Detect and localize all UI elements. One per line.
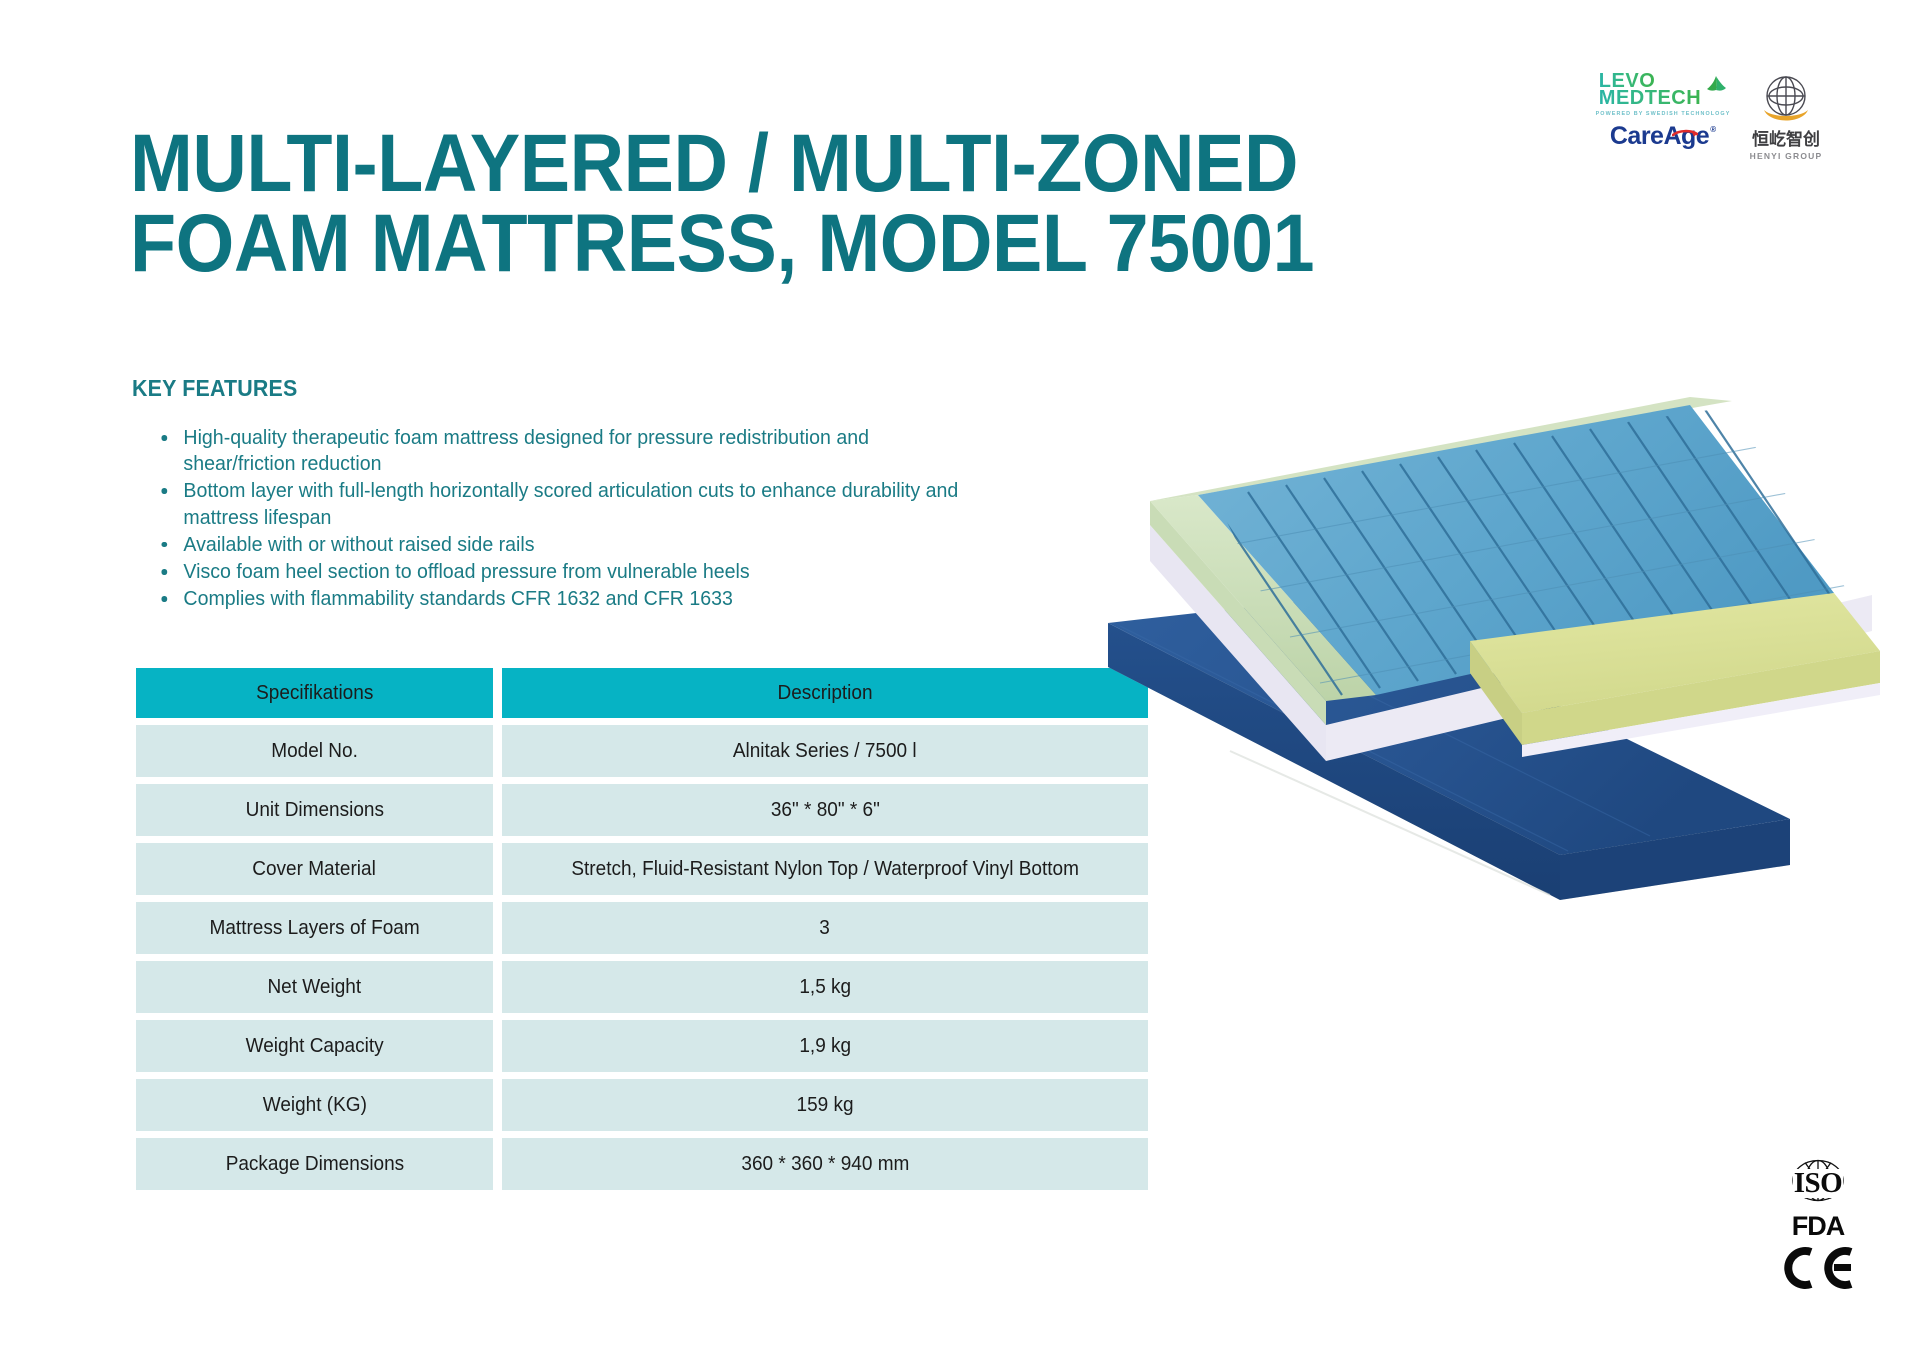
table-cell-value: 1,5 kg	[502, 961, 1148, 1013]
swoosh-icon	[1672, 125, 1698, 143]
page-title-line2: FOAM MATTRESS, MODEL 75001	[130, 204, 1326, 284]
key-features-heading: KEY FEATURES	[132, 375, 297, 402]
specifications-table: Specifikations Description Model No. Aln…	[136, 668, 1148, 1197]
fda-badge: FDA	[1792, 1213, 1845, 1240]
table-cell-value: 1,9 kg	[502, 1020, 1148, 1072]
henyi-chinese-name: 恒屹智创	[1752, 132, 1820, 149]
feature-item: Bottom layer with full-length horizontal…	[150, 478, 971, 530]
page-title: MULTI-LAYERED / MULTI-ZONED FOAM MATTRES…	[130, 124, 1430, 285]
table-row: Model No. Alnitak Series / 7500 l	[136, 725, 1148, 777]
leaf-icon	[1705, 75, 1727, 98]
bullet-icon	[161, 488, 166, 494]
table-row: Weight (KG) 159 kg	[136, 1079, 1148, 1131]
table-header-row: Specifikations Description	[136, 668, 1148, 718]
iso-badge: ISO	[1779, 1160, 1857, 1206]
bullet-icon	[161, 542, 166, 548]
table-cell-value: 159 kg	[502, 1079, 1148, 1131]
ce-badge	[1779, 1246, 1857, 1294]
table-row: Cover Material Stretch, Fluid-Resistant …	[136, 843, 1148, 895]
feature-item: High-quality therapeutic foam mattress d…	[150, 425, 971, 477]
feature-item-text: Available with or without raised side ra…	[183, 533, 534, 556]
table-cell-key: Cover Material	[136, 843, 493, 895]
table-cell-key: Package Dimensions	[136, 1138, 493, 1190]
careage-logo: CareAge ®	[1610, 122, 1716, 151]
table-cell-value: Stretch, Fluid-Resistant Nylon Top / Wat…	[502, 843, 1148, 895]
table-row: Package Dimensions 360 * 360 * 940 mm	[136, 1138, 1148, 1190]
bullet-icon	[161, 569, 166, 575]
levo-wordmark: LEVO MEDTECH	[1599, 72, 1701, 108]
table-cell-key: Unit Dimensions	[136, 784, 493, 836]
feature-item: Visco foam heel section to offload press…	[150, 559, 971, 585]
globe-icon	[1756, 74, 1816, 131]
feature-item-text: Bottom layer with full-length horizontal…	[183, 479, 958, 528]
brand-logo-cluster: LEVO MEDTECH POWERED BY SWEDISH TECHNOLO…	[1596, 72, 1832, 188]
feature-item-text: Visco foam heel section to offload press…	[183, 560, 749, 583]
table-cell-value: 360 * 360 * 940 mm	[502, 1138, 1148, 1190]
table-cell-value: 36" * 80" * 6"	[502, 784, 1148, 836]
table-cell-value: Alnitak Series / 7500 l	[502, 725, 1148, 777]
levo-careage-logo-group: LEVO MEDTECH POWERED BY SWEDISH TECHNOLO…	[1596, 72, 1730, 151]
table-header-specifications: Specifikations	[136, 668, 493, 718]
table-row: Unit Dimensions 36" * 80" * 6"	[136, 784, 1148, 836]
feature-item-text: Complies with flammability standards CFR…	[183, 587, 732, 610]
levo-line2: MEDTECH	[1599, 89, 1701, 107]
feature-item-text: High-quality therapeutic foam mattress d…	[183, 426, 869, 475]
levo-medtech-logo: LEVO MEDTECH	[1596, 72, 1730, 108]
table-row: Mattress Layers of Foam 3	[136, 902, 1148, 954]
henyi-group-logo: 恒屹智创 HENYI GROUP	[1740, 72, 1832, 161]
levo-tagline: POWERED BY SWEDISH TECHNOLOGY	[1596, 111, 1731, 117]
bullet-icon	[161, 596, 166, 602]
table-row: Net Weight 1,5 kg	[136, 961, 1148, 1013]
certification-badges: ISO FDA	[1762, 1160, 1874, 1294]
table-cell-value: 3	[502, 902, 1148, 954]
layered-foam-mattress-photo	[1090, 395, 1890, 905]
page-title-line1: MULTI-LAYERED / MULTI-ZONED	[130, 124, 1326, 204]
bullet-icon	[161, 435, 166, 441]
feature-item: Available with or without raised side ra…	[150, 532, 971, 558]
table-cell-key: Weight Capacity	[136, 1020, 493, 1072]
table-cell-key: Model No.	[136, 725, 493, 777]
table-header-description: Description	[502, 668, 1148, 718]
table-cell-key: Net Weight	[136, 961, 493, 1013]
key-features-list: High-quality therapeutic foam mattress d…	[150, 425, 1010, 614]
table-cell-key: Weight (KG)	[136, 1079, 493, 1131]
registered-trademark-icon: ®	[1710, 125, 1716, 134]
henyi-english-name: HENYI GROUP	[1750, 151, 1823, 161]
iso-label: ISO	[1793, 1169, 1843, 1198]
table-row: Weight Capacity 1,9 kg	[136, 1020, 1148, 1072]
feature-item: Complies with flammability standards CFR…	[150, 586, 971, 612]
table-cell-key: Mattress Layers of Foam	[136, 902, 493, 954]
